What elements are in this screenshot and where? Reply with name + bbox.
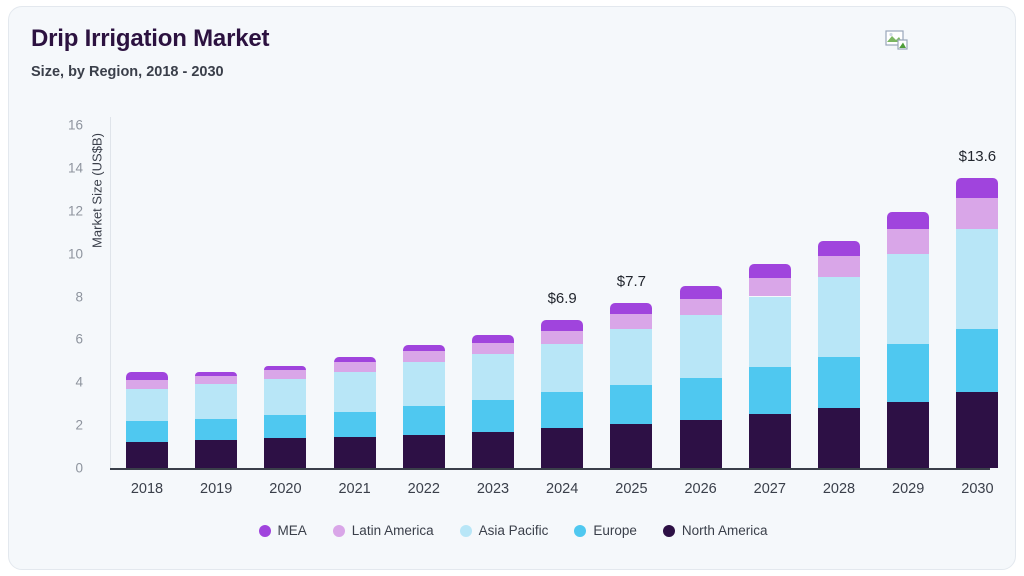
x-axis-tick-label: 2021	[320, 481, 390, 497]
bar-segment[interactable]	[956, 329, 998, 392]
bar-segment[interactable]	[818, 241, 860, 256]
y-axis-tick-label: 0	[37, 461, 83, 476]
bar-segment[interactable]	[818, 408, 860, 468]
bar-segment[interactable]	[403, 362, 445, 406]
bar-segment[interactable]	[264, 370, 306, 379]
bar-segment[interactable]	[541, 392, 583, 428]
y-axis-tick-label: 12	[37, 203, 83, 218]
bar-segment[interactable]	[749, 414, 791, 468]
bar-stack[interactable]	[126, 7, 168, 468]
bar-segment[interactable]	[541, 344, 583, 392]
bar-segment[interactable]	[195, 419, 237, 440]
bar-segment[interactable]	[887, 212, 929, 229]
x-axis-tick-label: 2019	[181, 481, 251, 497]
legend-label: MEA	[278, 523, 307, 538]
y-axis-tick-label: 2	[37, 418, 83, 433]
bar-segment[interactable]	[126, 372, 168, 381]
bar-segment[interactable]	[264, 415, 306, 438]
bar-segment[interactable]	[749, 264, 791, 278]
bar-segment[interactable]	[264, 379, 306, 415]
bar-segment[interactable]	[195, 376, 237, 385]
chart-card: Drip Irrigation Market Size, by Region, …	[8, 6, 1016, 570]
bar-segment[interactable]	[472, 335, 514, 343]
bar-segment[interactable]	[887, 402, 929, 468]
bar-value-label: $6.9	[522, 290, 602, 307]
bar-segment[interactable]	[610, 329, 652, 386]
bar-segment[interactable]	[334, 372, 376, 413]
x-axis-tick-label: 2026	[666, 481, 736, 497]
bar-segment[interactable]	[610, 385, 652, 424]
x-axis-tick-label: 2027	[735, 481, 805, 497]
x-axis-tick-label: 2024	[527, 481, 597, 497]
bar-stack[interactable]	[956, 7, 998, 468]
bar-segment[interactable]	[610, 303, 652, 314]
bar-segment[interactable]	[610, 424, 652, 468]
y-axis-ticks: 0246810121416	[33, 7, 83, 570]
legend-item[interactable]: North America	[663, 523, 768, 538]
bar-segment[interactable]	[749, 367, 791, 414]
bar-segment[interactable]	[126, 380, 168, 389]
x-axis-line	[110, 468, 990, 470]
legend-item[interactable]: MEA	[259, 523, 307, 538]
x-axis-tick-label: 2023	[458, 481, 528, 497]
bar-segment[interactable]	[541, 428, 583, 468]
bar-stack[interactable]	[541, 7, 583, 468]
bar-segment[interactable]	[334, 412, 376, 437]
y-axis-title: Market Size (US$B)	[90, 91, 105, 291]
y-axis-tick-label: 14	[37, 160, 83, 175]
bar-segment[interactable]	[680, 315, 722, 378]
y-axis-tick-label: 4	[37, 375, 83, 390]
bar-segment[interactable]	[403, 351, 445, 362]
x-axis-tick-label: 2030	[942, 481, 1012, 497]
bar-segment[interactable]	[680, 299, 722, 315]
bar-segment[interactable]	[818, 357, 860, 408]
bar-stack[interactable]	[818, 7, 860, 468]
bar-segment[interactable]	[887, 254, 929, 344]
bar-segment[interactable]	[403, 406, 445, 435]
bar-segment[interactable]	[403, 345, 445, 351]
bar-segment[interactable]	[541, 331, 583, 344]
y-axis-tick-label: 16	[37, 118, 83, 133]
bar-segment[interactable]	[680, 378, 722, 420]
bar-stack[interactable]	[749, 7, 791, 468]
bar-segment[interactable]	[472, 400, 514, 431]
chart-plot-area: Market Size (US$B) 0246810121416 2018201…	[9, 7, 1016, 570]
x-axis-tick-label: 2025	[596, 481, 666, 497]
y-axis-tick-label: 10	[37, 246, 83, 261]
bar-value-label: $7.7	[591, 273, 671, 290]
bar-segment[interactable]	[195, 384, 237, 418]
bar-segment[interactable]	[334, 437, 376, 468]
chart-legend: MEALatin AmericaAsia PacificEuropeNorth …	[9, 523, 1016, 538]
bar-stack[interactable]	[195, 7, 237, 468]
bar-segment[interactable]	[956, 229, 998, 329]
legend-color-swatch	[574, 525, 586, 537]
bar-segment[interactable]	[887, 229, 929, 254]
legend-label: Asia Pacific	[479, 523, 549, 538]
legend-label: Europe	[593, 523, 637, 538]
bar-stack[interactable]	[264, 7, 306, 468]
legend-item[interactable]: Asia Pacific	[460, 523, 549, 538]
bar-stack[interactable]	[610, 7, 652, 468]
bar-segment[interactable]	[610, 314, 652, 329]
legend-label: Latin America	[352, 523, 434, 538]
bar-segment[interactable]	[887, 344, 929, 402]
legend-label: North America	[682, 523, 768, 538]
y-axis-line	[110, 117, 111, 469]
bar-segment[interactable]	[541, 320, 583, 331]
x-axis-tick-label: 2018	[112, 481, 182, 497]
bar-segment[interactable]	[126, 442, 168, 468]
bar-segment[interactable]	[264, 438, 306, 468]
bar-segment[interactable]	[749, 278, 791, 296]
legend-item[interactable]: Latin America	[333, 523, 434, 538]
bar-stack[interactable]	[403, 7, 445, 468]
bar-segment[interactable]	[264, 366, 306, 370]
bar-stack[interactable]	[472, 7, 514, 468]
bar-segment[interactable]	[472, 343, 514, 355]
x-axis-tick-label: 2028	[804, 481, 874, 497]
x-axis-tick-label: 2022	[389, 481, 459, 497]
bar-segment[interactable]	[334, 362, 376, 372]
bar-segment[interactable]	[472, 432, 514, 468]
bar-segment[interactable]	[126, 389, 168, 421]
x-axis-tick-label: 2020	[250, 481, 320, 497]
bar-segment[interactable]	[334, 357, 376, 362]
bar-segment[interactable]	[680, 286, 722, 299]
bar-segment[interactable]	[195, 372, 237, 376]
bar-segment[interactable]	[472, 354, 514, 400]
bar-segment[interactable]	[749, 297, 791, 368]
legend-item[interactable]: Europe	[574, 523, 637, 538]
legend-color-swatch	[663, 525, 675, 537]
bar-value-label: $13.6	[937, 148, 1016, 165]
bar-stack[interactable]	[887, 7, 929, 468]
bar-stack[interactable]	[680, 7, 722, 468]
bar-segment[interactable]	[126, 421, 168, 442]
legend-color-swatch	[333, 525, 345, 537]
bar-segment[interactable]	[956, 198, 998, 229]
y-axis-tick-label: 8	[37, 289, 83, 304]
legend-color-swatch	[259, 525, 271, 537]
bar-segment[interactable]	[680, 420, 722, 468]
bar-segment[interactable]	[818, 256, 860, 277]
bar-segment[interactable]	[818, 277, 860, 356]
x-axis-tick-label: 2029	[873, 481, 943, 497]
y-axis-tick-label: 6	[37, 332, 83, 347]
bar-stack[interactable]	[334, 7, 376, 468]
bar-segment[interactable]	[956, 178, 998, 198]
bar-segment[interactable]	[956, 392, 998, 468]
bar-segment[interactable]	[195, 440, 237, 468]
legend-color-swatch	[460, 525, 472, 537]
bar-segment[interactable]	[403, 435, 445, 468]
